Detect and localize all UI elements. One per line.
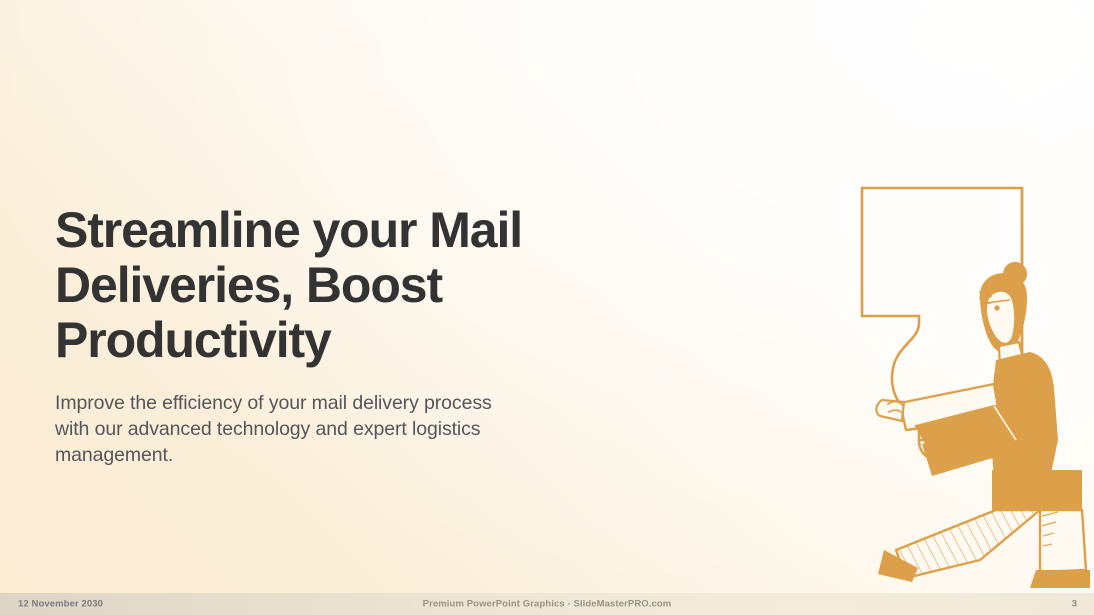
person-carrying-package-illustration xyxy=(844,178,1094,598)
footer-credit: Premium PowerPoint Graphics - SlideMaste… xyxy=(0,599,1094,610)
shoe-front xyxy=(1030,570,1090,588)
trouser-leg-front xyxy=(1040,510,1086,572)
footer-page-number: 3 xyxy=(1072,599,1077,610)
presentation-slide: Streamline your Mail Deliveries, Boost P… xyxy=(0,0,1094,615)
slide-subtitle: Improve the efficiency of your mail deli… xyxy=(55,368,615,468)
eye xyxy=(994,305,999,310)
slide-text-content: Streamline your Mail Deliveries, Boost P… xyxy=(55,203,615,468)
slide-footer: 12 November 2030 Premium PowerPoint Grap… xyxy=(0,593,1094,615)
footer-inner: 12 November 2030 Premium PowerPoint Grap… xyxy=(0,593,1094,615)
slide-title: Streamline your Mail Deliveries, Boost P… xyxy=(55,203,615,368)
slide-illustration xyxy=(844,178,1094,598)
jacket-hem xyxy=(992,470,1082,512)
